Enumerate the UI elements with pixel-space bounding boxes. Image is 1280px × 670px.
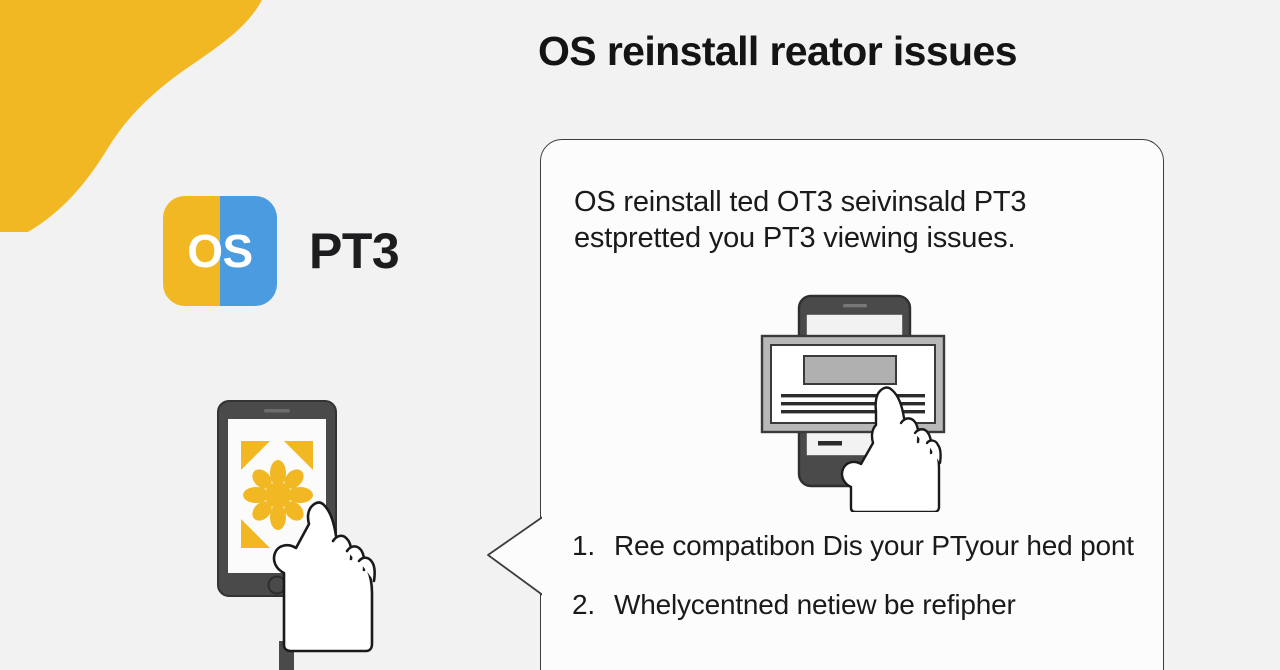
list-item-number: 2. — [572, 587, 604, 624]
hand-tapping-phone-illustration — [200, 393, 405, 670]
list-item: 2. Whelycentned netiew be refipher — [572, 587, 1142, 624]
list-item: 1. Ree compatibon Dis your PTyour hed po… — [572, 528, 1142, 565]
callout-body-text: OS reinstall ted OT3 seivinsald PT3 estp… — [574, 184, 1134, 257]
callout-step-list: 1. Ree compatibon Dis your PTyour hed po… — [572, 528, 1142, 646]
brand-wordmark: PT3 — [309, 226, 399, 276]
os-app-icon: OS — [163, 196, 277, 306]
list-item-text: Ree compatibon Dis your PTyour hed pont — [614, 528, 1142, 565]
screenshot-stage: OS reinstall reator issues OS PT3 — [0, 0, 1280, 670]
list-item-text: Whelycentned netiew be refipher — [614, 587, 1142, 624]
os-icon-label: OS — [163, 228, 277, 274]
hand-tapping-document-card-illustration — [758, 286, 982, 512]
list-item-number: 1. — [572, 528, 604, 565]
page-title: OS reinstall reator issues — [538, 26, 1178, 77]
callout-tail — [484, 510, 546, 602]
brand-lockup: OS PT3 — [163, 196, 399, 306]
